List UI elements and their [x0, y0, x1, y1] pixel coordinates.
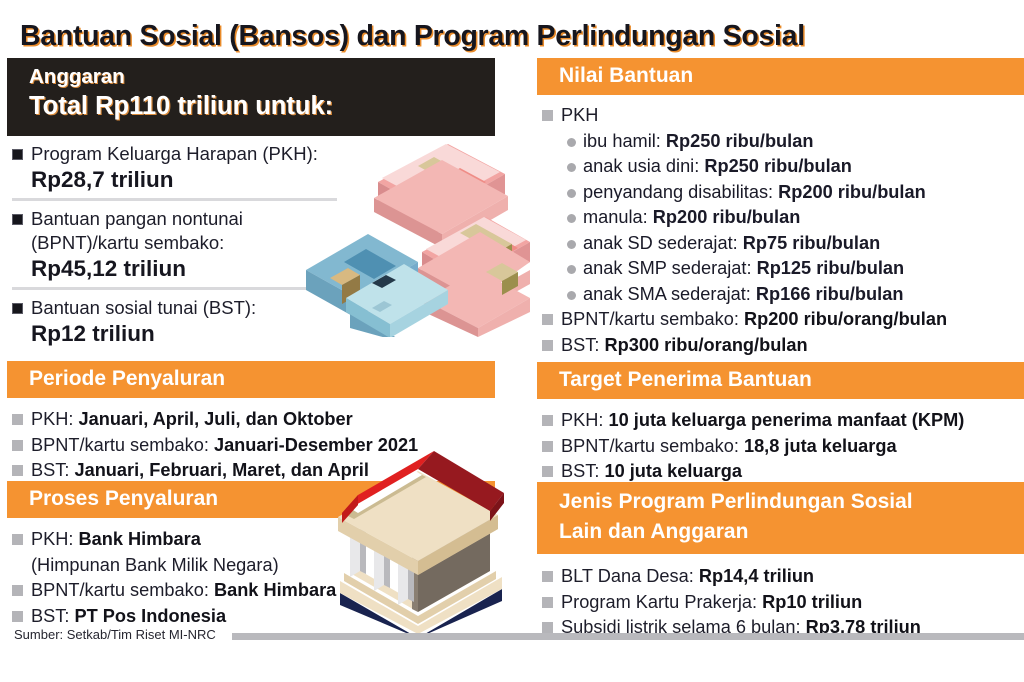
item-name: anak SMA sederajat:	[583, 284, 756, 304]
dot-bullet-icon	[567, 189, 576, 198]
budget-item: Bantuan pangan nontunai (BPNT)/kartu sem…	[7, 207, 337, 283]
list-item: ibu hamil: Rp250 ribu/bulan	[567, 129, 1024, 155]
item-name: PKH:	[561, 410, 609, 430]
nilai-pkh-sublist: ibu hamil: Rp250 ribu/bulan anak usia di…	[537, 129, 1024, 308]
item-value: Bank Himbara	[214, 580, 336, 600]
nilai-header: Nilai Bantuan	[537, 58, 1024, 95]
list-item: anak SD sederajat: Rp75 ribu/bulan	[567, 231, 1024, 257]
list-item: anak SMA sederajat: Rp166 ribu/bulan	[567, 282, 1024, 308]
nilai-other-list: BPNT/kartu sembako: Rp200 ribu/orang/bul…	[537, 307, 1024, 358]
list-item: BPNT/kartu sembako: 18,8 juta keluarga	[537, 434, 1024, 460]
budget-item-label-cont: (BPNT)/kartu sembako:	[31, 231, 337, 255]
jenis-lain-header-line1: Jenis Program Perlindungan Sosial	[559, 487, 1024, 517]
nilai-section: Nilai Bantuan PKH ibu hamil: Rp250 ribu/…	[537, 58, 1024, 358]
dot-bullet-icon	[567, 163, 576, 172]
item-value: Rp250 ribu/bulan	[666, 131, 814, 151]
item-value: PT Pos Indonesia	[74, 606, 226, 626]
budget-item: Bantuan sosial tunai (BST): Rp12 triliun	[7, 296, 337, 348]
item-value: Januari, April, Juli, dan Oktober	[79, 409, 353, 429]
item-value: Rp200 ribu/bulan	[778, 182, 926, 202]
right-column: Nilai Bantuan PKH ibu hamil: Rp250 ribu/…	[528, 56, 1024, 682]
item-name: BPNT/kartu sembako:	[31, 580, 214, 600]
square-bullet-icon	[12, 149, 23, 160]
money-stacks-illustration	[300, 122, 530, 337]
divider	[12, 287, 337, 290]
budget-kicker: Anggaran	[29, 64, 495, 90]
square-bullet-icon	[12, 303, 23, 314]
item-name: BPNT/kartu sembako:	[561, 436, 744, 456]
square-bullet-icon	[542, 415, 553, 426]
square-bullet-icon	[542, 571, 553, 582]
square-bullet-icon	[12, 534, 23, 545]
dot-bullet-icon	[567, 214, 576, 223]
list-item: BLT Dana Desa: Rp14,4 triliun	[537, 564, 1024, 590]
square-bullet-icon	[542, 441, 553, 452]
item-value: Rp166 ribu/bulan	[756, 284, 904, 304]
item-value: 10 juta keluarga penerima manfaat (KPM)	[609, 410, 965, 430]
square-bullet-icon	[12, 214, 23, 225]
item-name: BPNT/kartu sembako:	[31, 435, 214, 455]
budget-headline: Total Rp110 triliun untuk:	[29, 90, 495, 123]
item-name: anak usia dini:	[583, 156, 704, 176]
item-name: PKH	[561, 105, 598, 125]
list-item: PKH: 10 juta keluarga penerima manfaat (…	[537, 408, 1024, 434]
item-name: manula:	[583, 207, 653, 227]
item-value: Rp75 ribu/bulan	[743, 233, 880, 253]
item-name: penyandang disabilitas:	[583, 182, 778, 202]
item-name: PKH:	[31, 409, 79, 429]
item-name: ibu hamil:	[583, 131, 666, 151]
periode-header: Periode Penyaluran	[7, 361, 495, 398]
list-item: Program Kartu Prakerja: Rp10 triliun	[537, 590, 1024, 616]
item-name: BLT Dana Desa:	[561, 566, 699, 586]
list-item: anak usia dini: Rp250 ribu/bulan	[567, 154, 1024, 180]
target-list: PKH: 10 juta keluarga penerima manfaat (…	[537, 408, 1024, 485]
item-name: anak SMP sederajat:	[583, 258, 757, 278]
square-bullet-icon	[12, 585, 23, 596]
list-item: BST: 10 juta keluarga	[537, 459, 1024, 485]
dot-bullet-icon	[567, 265, 576, 274]
item-name: PKH:	[31, 529, 79, 549]
list-item: anak SMP sederajat: Rp125 ribu/bulan	[567, 256, 1024, 282]
infographic-page: Bantuan Sosial (Bansos) dan Program Perl…	[0, 0, 1024, 682]
budget-item-label: Bantuan pangan nontunai	[31, 207, 337, 231]
item-value: Bank Himbara	[79, 529, 201, 549]
jenis-lain-header-line2: Lain dan Anggaran	[559, 517, 1024, 547]
item-value: Rp300 ribu/orang/bulan	[604, 335, 807, 355]
bank-building-illustration	[322, 443, 522, 638]
square-bullet-icon	[12, 440, 23, 451]
item-value: 10 juta keluarga	[604, 461, 741, 481]
item-name: anak SD sederajat:	[583, 233, 743, 253]
target-section: Target Penerima Bantuan PKH: 10 juta kel…	[537, 362, 1024, 485]
square-bullet-icon	[12, 414, 23, 425]
budget-item-value: Rp12 triliun	[31, 320, 337, 348]
item-name: BST:	[561, 335, 604, 355]
square-bullet-icon	[12, 611, 23, 622]
budget-item: Program Keluarga Harapan (PKH): Rp28,7 t…	[7, 142, 337, 194]
square-bullet-icon	[542, 110, 553, 121]
item-value: Rp125 ribu/bulan	[757, 258, 905, 278]
dot-bullet-icon	[567, 138, 576, 147]
target-header: Target Penerima Bantuan	[537, 362, 1024, 399]
item-name: BPNT/kartu sembako:	[561, 309, 744, 329]
square-bullet-icon	[542, 340, 553, 351]
source-rule	[232, 633, 1024, 640]
item-value: Rp250 ribu/bulan	[704, 156, 852, 176]
budget-item-label: Program Keluarga Harapan (PKH):	[31, 142, 337, 166]
source-row: Sumber: Setkab/Tim Riset MI-NRC	[14, 627, 1024, 643]
list-item: PKH: Januari, April, Juli, dan Oktober	[7, 407, 495, 433]
budget-list: Program Keluarga Harapan (PKH): Rp28,7 t…	[7, 142, 337, 348]
item-value: 18,8 juta keluarga	[744, 436, 897, 456]
budget-item-value: Rp28,7 triliun	[31, 166, 337, 194]
square-bullet-icon	[12, 465, 23, 476]
item-value: Rp10 triliun	[762, 592, 862, 612]
item-name: BST:	[561, 461, 604, 481]
item-name: Program Kartu Prakerja:	[561, 592, 762, 612]
source-text: Sumber: Setkab/Tim Riset MI-NRC	[14, 627, 216, 642]
list-item: manula: Rp200 ribu/bulan	[567, 205, 1024, 231]
square-bullet-icon	[542, 597, 553, 608]
dot-bullet-icon	[567, 291, 576, 300]
item-name: BST:	[31, 606, 74, 626]
item-value: Rp200 ribu/orang/bulan	[744, 309, 947, 329]
page-title: Bantuan Sosial (Bansos) dan Program Perl…	[20, 20, 1000, 53]
list-item: penyandang disabilitas: Rp200 ribu/bulan	[567, 180, 1024, 206]
list-item: BPNT/kartu sembako: Rp200 ribu/orang/bul…	[537, 307, 1024, 333]
jenis-lain-header: Jenis Program Perlindungan Sosial Lain d…	[537, 482, 1024, 554]
budget-item-label: Bantuan sosial tunai (BST):	[31, 296, 337, 320]
nilai-list: PKH	[537, 103, 1024, 129]
list-item: PKH	[537, 103, 1024, 129]
budget-item-value: Rp45,12 triliun	[31, 255, 337, 283]
square-bullet-icon	[542, 466, 553, 477]
item-value: Rp200 ribu/bulan	[653, 207, 801, 227]
divider	[12, 198, 337, 201]
dot-bullet-icon	[567, 240, 576, 249]
item-value: Rp14,4 triliun	[699, 566, 814, 586]
list-item: BST: Rp300 ribu/orang/bulan	[537, 333, 1024, 359]
square-bullet-icon	[542, 314, 553, 325]
item-name: BST:	[31, 460, 74, 480]
jenis-lain-section: Jenis Program Perlindungan Sosial Lain d…	[537, 482, 1024, 641]
